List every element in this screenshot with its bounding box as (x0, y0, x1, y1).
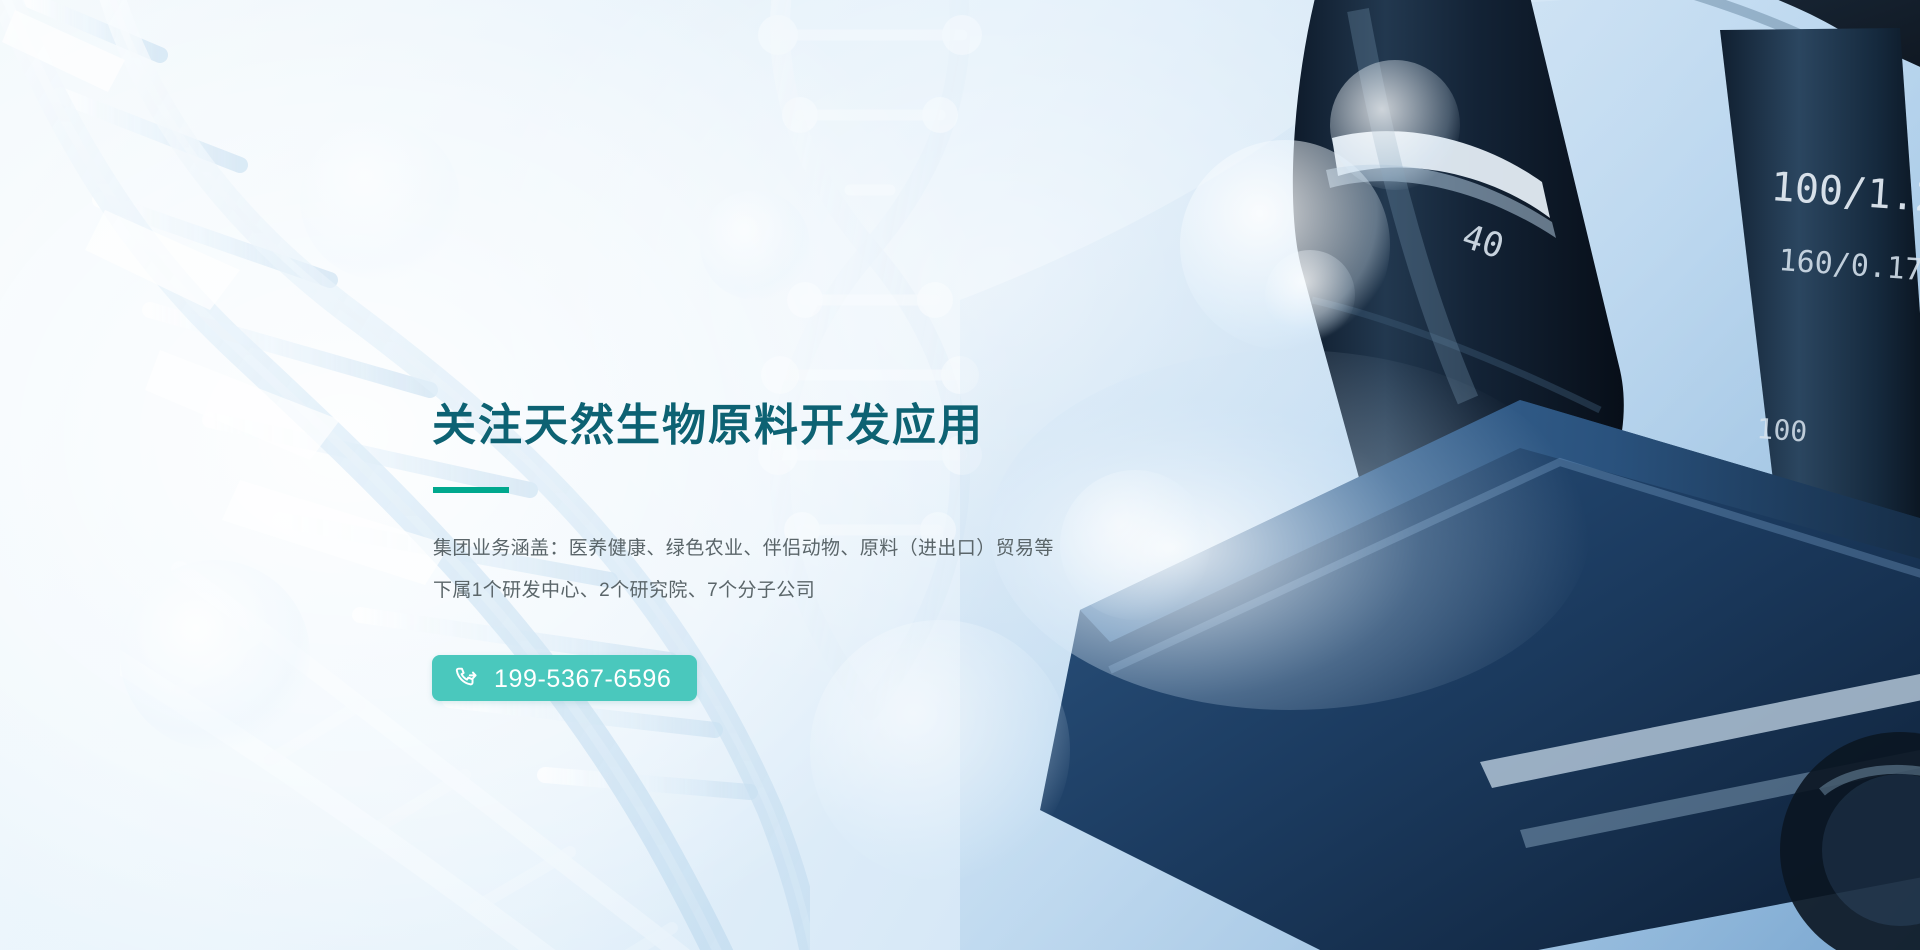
hero-content: 关注天然生物原料开发应用 集团业务涵盖：医养健康、绿色农业、伴侣动物、原料（进出… (432, 0, 1332, 950)
hero-description-line-1: 集团业务涵盖：医养健康、绿色农业、伴侣动物、原料（进出口）贸易等 (433, 528, 1054, 570)
hero-divider (433, 487, 509, 493)
hero-title: 关注天然生物原料开发应用 (432, 398, 984, 454)
hero-description: 集团业务涵盖：医养健康、绿色农业、伴侣动物、原料（进出口）贸易等 下属1个研发中… (433, 528, 1054, 612)
phone-cta-button[interactable]: 199-5367-6596 (432, 655, 697, 701)
hero-description-line-2: 下属1个研发中心、2个研究院、7个分子公司 (433, 570, 1054, 612)
phone-outgoing-icon (454, 665, 480, 691)
svg-text:100: 100 (1756, 412, 1809, 448)
phone-number: 199-5367-6596 (494, 667, 671, 692)
hero-banner: 100/1.25 160/0.17 100 40 (0, 0, 1920, 950)
